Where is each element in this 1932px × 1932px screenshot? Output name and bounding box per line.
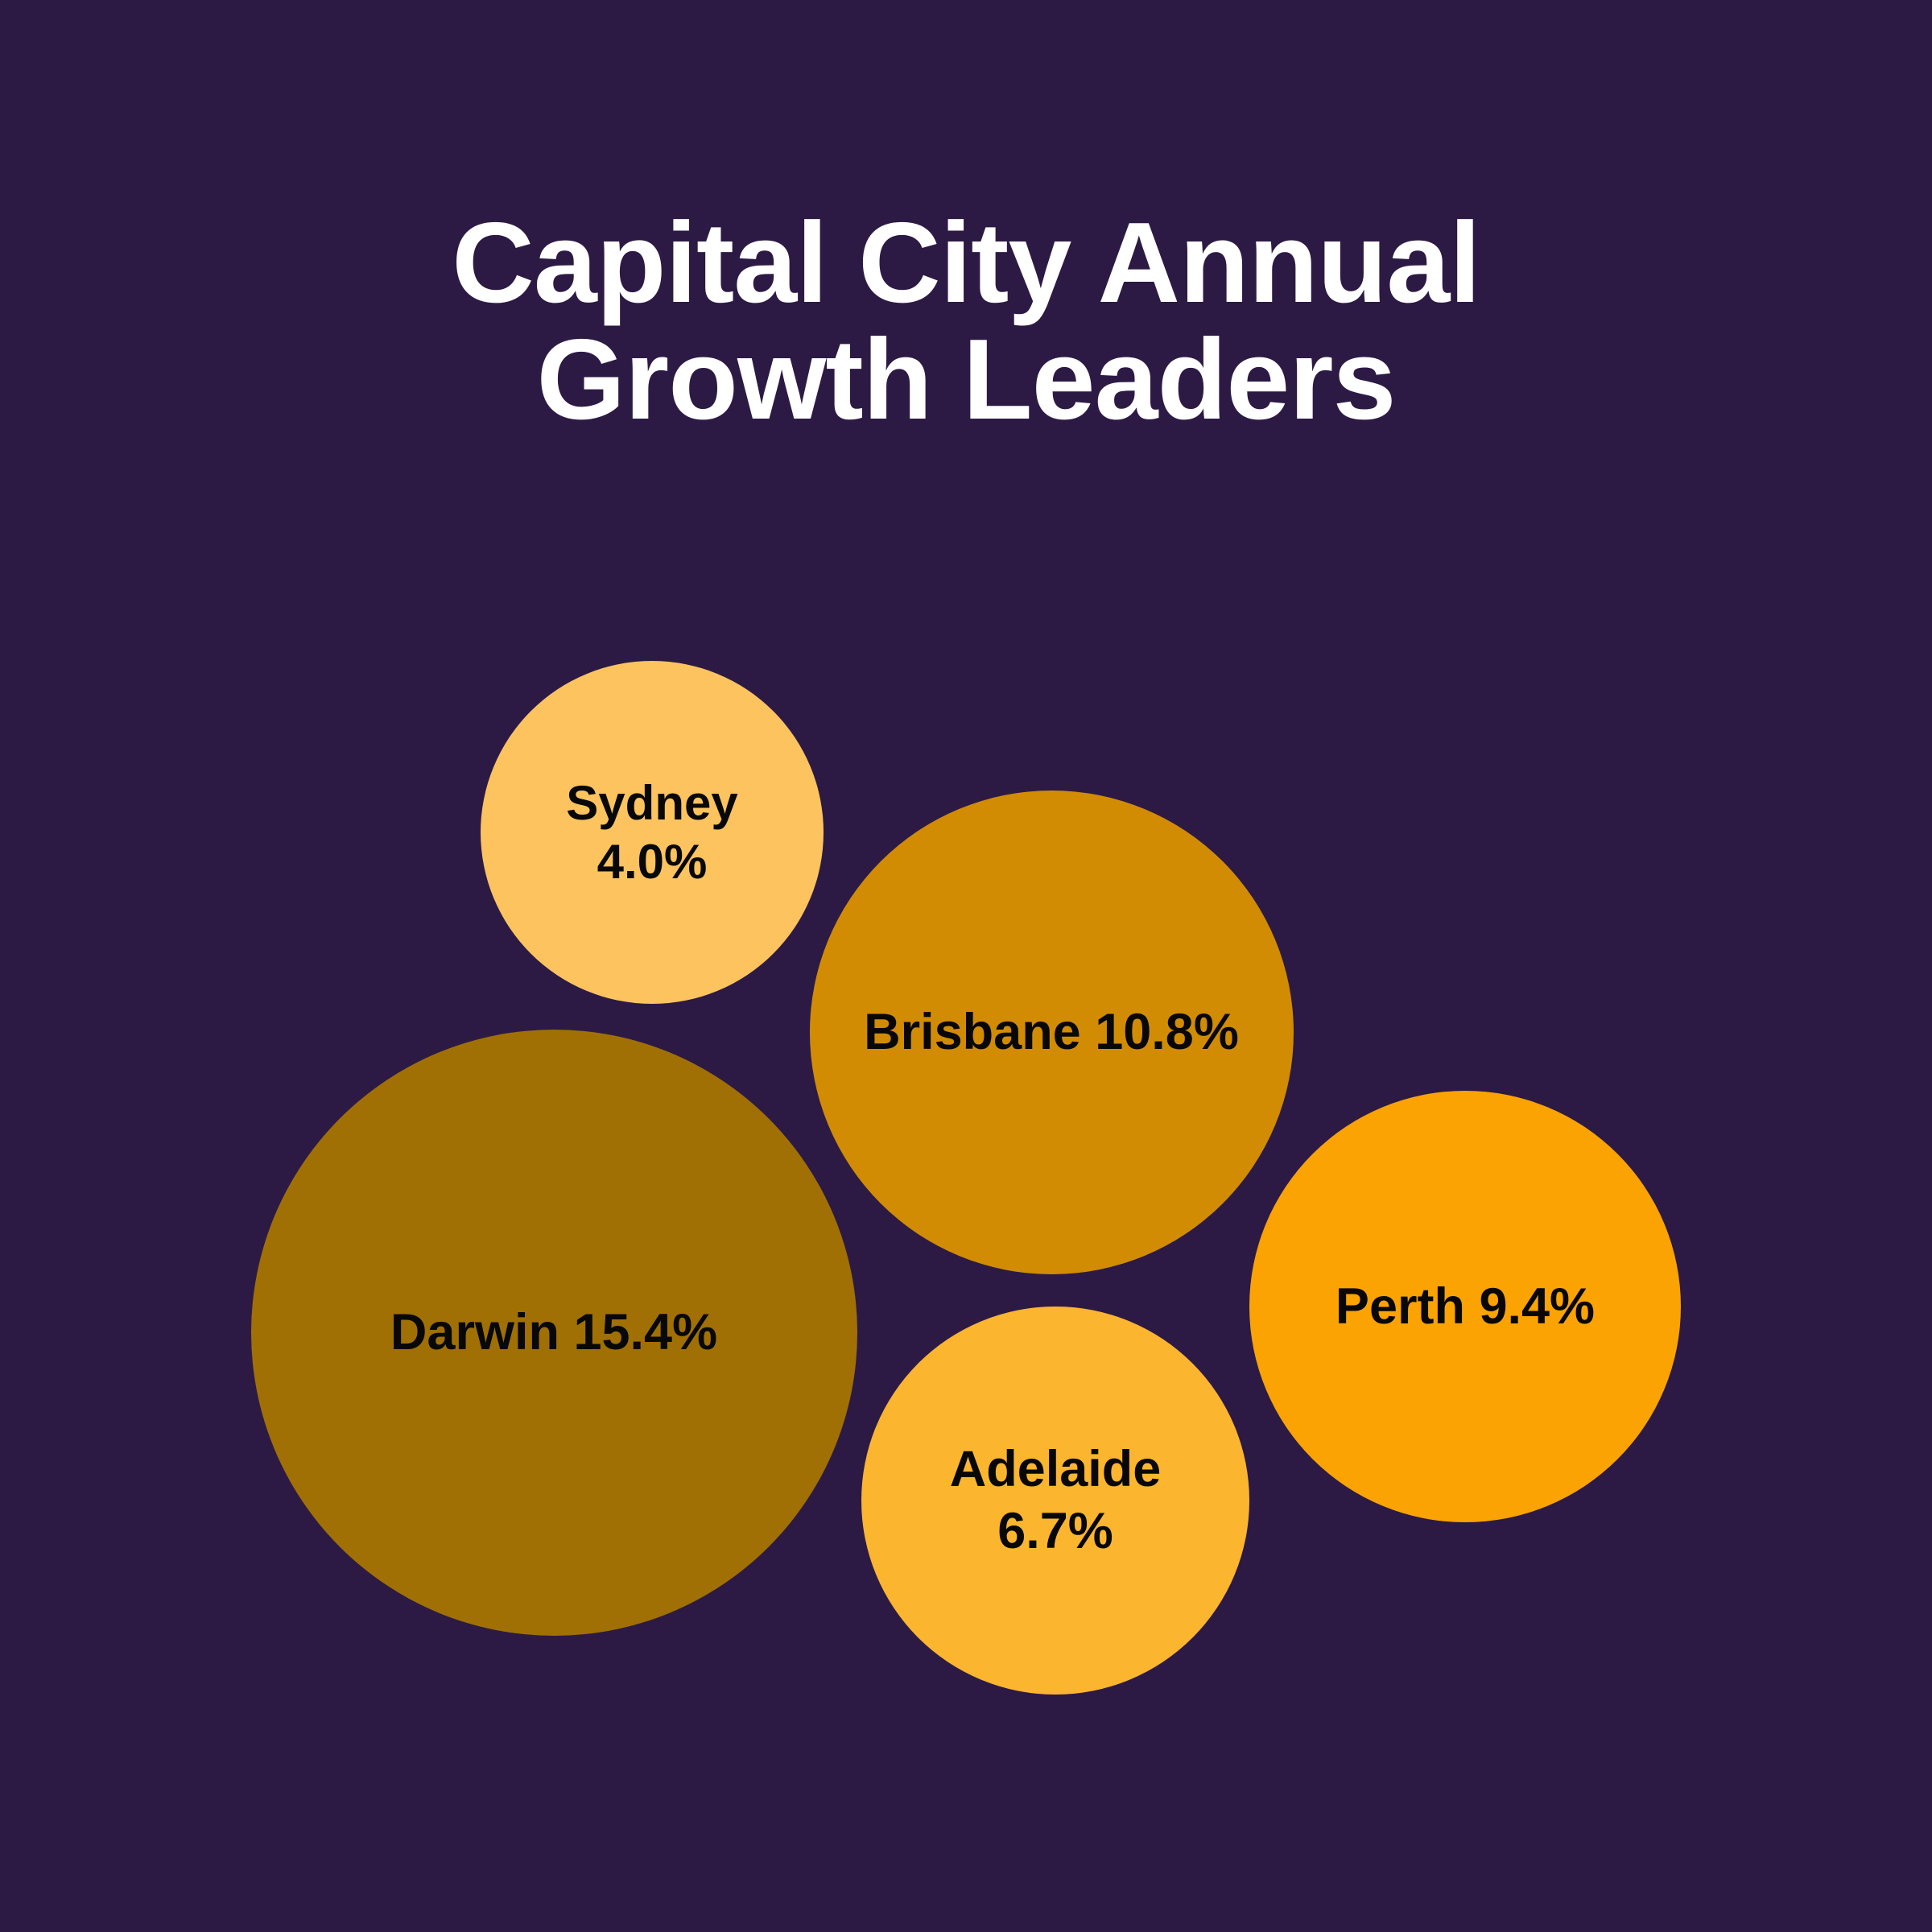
bubble-label-sydney: Sydney 4.0% xyxy=(559,774,744,891)
bubble-label-darwin: Darwin 15.4% xyxy=(384,1302,724,1364)
bubble-darwin[interactable]: Darwin 15.4% xyxy=(251,1030,857,1636)
bubble-label-adelaide: Adelaide 6.7% xyxy=(943,1439,1168,1563)
bubble-chart-canvas: Capital City Annual Growth Leaders Darwi… xyxy=(0,0,1932,1932)
bubble-perth[interactable]: Perth 9.4% xyxy=(1249,1091,1681,1522)
bubble-label-perth: Perth 9.4% xyxy=(1329,1276,1601,1338)
bubble-adelaide[interactable]: Adelaide 6.7% xyxy=(861,1307,1249,1695)
bubble-brisbane[interactable]: Brisbane 10.8% xyxy=(810,791,1294,1274)
bubble-label-brisbane: Brisbane 10.8% xyxy=(857,1001,1245,1063)
bubble-layer: Darwin 15.4% Brisbane 10.8% Perth 9.4% A… xyxy=(0,0,1932,1932)
bubble-sydney[interactable]: Sydney 4.0% xyxy=(481,661,824,1004)
